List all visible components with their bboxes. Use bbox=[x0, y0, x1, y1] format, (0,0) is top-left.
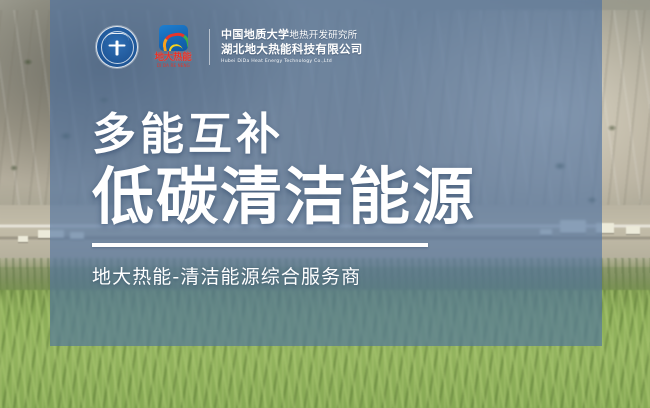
org-line-2: 湖北地大热能科技有限公司 bbox=[221, 43, 363, 57]
org-institute-name: 地热开发研究所 bbox=[289, 30, 357, 41]
promo-banner: 地大热能 DI DA RE NENG 中国地质大学地热开发研究所 湖北地大热能科… bbox=[0, 0, 650, 408]
tagline: 地大热能-清洁能源综合服务商 bbox=[92, 262, 562, 289]
university-seal-icon bbox=[96, 26, 138, 68]
seal-glyph bbox=[109, 40, 126, 55]
logo-lockup: 地大热能 DI DA RE NENG 中国地质大学地热开发研究所 湖北地大热能科… bbox=[96, 24, 363, 70]
headline-block: 多能互补 低碳清洁能源 地大热能-清洁能源综合服务商 bbox=[92, 112, 562, 289]
headline-divider-rule bbox=[92, 243, 428, 247]
logo-divider bbox=[209, 29, 210, 65]
headline-line-1: 多能互补 bbox=[92, 112, 562, 158]
rainbow-arc-icon bbox=[159, 25, 188, 51]
org-university-name: 中国地质大学 bbox=[221, 28, 289, 41]
org-line-1: 中国地质大学地热开发研究所 bbox=[221, 29, 363, 42]
brand-name-pinyin: DI DA RE NENG bbox=[156, 64, 189, 68]
rainbow-arc-shape bbox=[161, 31, 188, 51]
brand-name-cn: 地大热能 bbox=[155, 53, 192, 63]
org-line-3-english: Hubei DiDa Heat Energy Technology Co.,Lt… bbox=[221, 59, 363, 64]
organization-text: 中国地质大学地热开发研究所 湖北地大热能科技有限公司 Hubei DiDa He… bbox=[221, 29, 363, 64]
brand-mark: 地大热能 DI DA RE NENG bbox=[151, 25, 195, 68]
headline-line-2: 低碳清洁能源 bbox=[92, 164, 562, 229]
